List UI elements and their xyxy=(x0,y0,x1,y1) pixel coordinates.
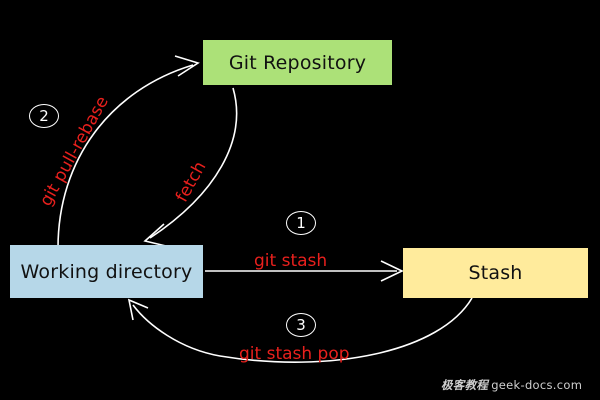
edge-git-stash-pop-arrowhead xyxy=(129,300,148,320)
node-working-directory-label: Working directory xyxy=(21,261,193,283)
node-git-repository[interactable]: Git Repository xyxy=(203,40,392,85)
edge-git-pull-rebase-arrowhead xyxy=(175,56,198,76)
node-working-directory[interactable]: Working directory xyxy=(10,245,203,298)
step-badge-1: 1 xyxy=(286,211,316,235)
node-git-repository-label: Git Repository xyxy=(229,52,366,74)
node-stash-label: Stash xyxy=(468,262,522,284)
node-stash[interactable]: Stash xyxy=(403,248,588,298)
watermark-brand: 极客教程 xyxy=(441,378,488,392)
edge-label-git-stash: git stash xyxy=(254,251,327,271)
watermark-site: geek-docs.com xyxy=(491,378,582,392)
edge-label-git-stash-pop: git stash pop xyxy=(239,344,350,364)
step-badge-2: 2 xyxy=(29,104,59,128)
step-badge-3: 3 xyxy=(286,313,316,337)
watermark: 极客教程geek-docs.com xyxy=(441,377,582,393)
diagram-canvas: Git Repository Working directory Stash 1… xyxy=(0,0,600,400)
